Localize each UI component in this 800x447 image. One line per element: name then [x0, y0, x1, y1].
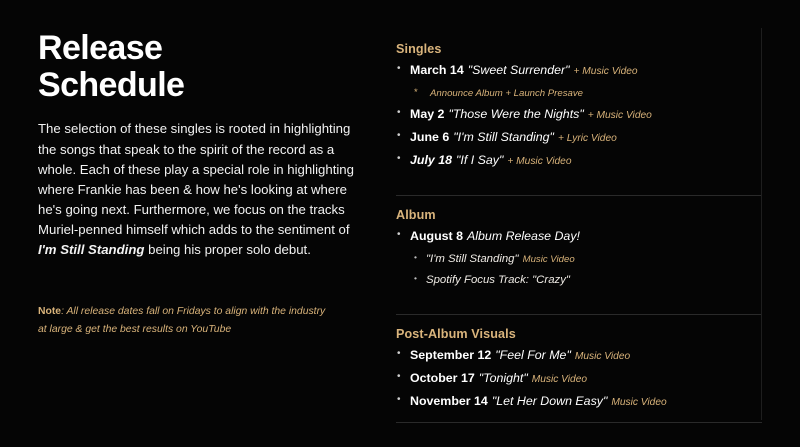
body-text-part-2: being his proper solo debut. — [144, 242, 310, 257]
item-tag: + Music Video — [588, 110, 652, 121]
slide-canvas: Release Schedule The selection of these … — [0, 0, 800, 447]
section-heading-album: Album — [396, 208, 762, 222]
list-item: "I'm Still Standing"Music Video — [396, 252, 762, 266]
album-list: August 8Album Release Day! "I'm Still St… — [396, 229, 762, 287]
item-date: September 12 — [410, 348, 491, 362]
item-tag: Music Video — [611, 397, 666, 408]
list-item: June 6"I'm Still Standing"+ Lyric Video — [396, 130, 762, 146]
list-item: November 14"Let Her Down Easy"Music Vide… — [396, 394, 762, 410]
item-track: "Let Her Down Easy" — [492, 394, 608, 408]
item-tag: + Music Video — [574, 66, 638, 77]
item-date: March 14 — [410, 63, 464, 77]
item-date: August 8 — [410, 229, 463, 243]
section-gap — [396, 175, 762, 195]
body-text-part-1: The selection of these singles is rooted… — [38, 121, 354, 236]
item-date: July 18 — [410, 153, 452, 167]
section-heading-post-album-visuals: Post-Album Visuals — [396, 327, 762, 341]
item-tag: + Lyric Video — [558, 133, 617, 144]
item-track: "I'm Still Standing" — [453, 130, 554, 144]
list-item: October 17"Tonight"Music Video — [396, 371, 762, 387]
list-item: May 2"Those Were the Nights"+ Music Vide… — [396, 107, 762, 123]
section-divider-bottom — [396, 422, 762, 423]
list-item: July 18"If I Say"+ Music Video — [396, 153, 762, 169]
left-column: Release Schedule The selection of these … — [38, 30, 358, 260]
section-gap — [396, 294, 762, 314]
item-track: "Tonight" — [479, 371, 528, 385]
item-track: "Feel For Me" — [495, 348, 571, 362]
vertical-guide-line — [761, 28, 762, 420]
page-title: Release Schedule — [38, 30, 358, 103]
list-item: Announce Album + Launch Presave — [396, 86, 762, 100]
item-tag: + Music Video — [507, 156, 571, 167]
section-divider — [396, 314, 762, 315]
list-item: August 8Album Release Day! — [396, 229, 762, 245]
item-date: November 14 — [410, 394, 488, 408]
note-label: Note — [38, 306, 61, 317]
item-subtext: Spotify Focus Track: "Crazy" — [426, 274, 570, 286]
note-text: All release dates fall on Fridays to ali… — [38, 306, 325, 335]
body-paragraph: The selection of these singles is rooted… — [38, 119, 358, 259]
section-singles: Singles March 14"Sweet Surrender"+ Music… — [396, 42, 762, 168]
list-item: September 12"Feel For Me"Music Video — [396, 348, 762, 364]
item-track: Album Release Day! — [467, 229, 580, 243]
item-tag: Music Video — [532, 374, 587, 385]
section-post-album-visuals: Post-Album Visuals September 12"Feel For… — [396, 314, 762, 422]
item-date: May 2 — [410, 107, 444, 121]
item-tag: Music Video — [523, 254, 575, 265]
section-heading-singles: Singles — [396, 42, 762, 56]
item-subtext: Announce Album + Launch Presave — [430, 88, 583, 99]
item-date: June 6 — [410, 130, 449, 144]
note-block: Note: All release dates fall on Fridays … — [38, 303, 328, 339]
item-track: "Those Were the Nights" — [448, 107, 583, 121]
item-subtext: "I'm Still Standing" — [426, 253, 519, 265]
body-emphasis-text: I'm Still Standing — [38, 242, 144, 257]
right-column: Singles March 14"Sweet Surrender"+ Music… — [396, 42, 762, 423]
item-track: "Sweet Surrender" — [468, 63, 570, 77]
singles-list: March 14"Sweet Surrender"+ Music Video A… — [396, 63, 762, 168]
post-album-list: September 12"Feel For Me"Music Video Oct… — [396, 348, 762, 409]
section-album: Album August 8Album Release Day! "I'm St… — [396, 195, 762, 287]
list-item: March 14"Sweet Surrender"+ Music Video — [396, 63, 762, 79]
section-divider — [396, 195, 762, 196]
item-tag: Music Video — [575, 351, 630, 362]
item-track: "If I Say" — [456, 153, 503, 167]
item-date: October 17 — [410, 371, 475, 385]
list-item: Spotify Focus Track: "Crazy" — [396, 273, 762, 287]
